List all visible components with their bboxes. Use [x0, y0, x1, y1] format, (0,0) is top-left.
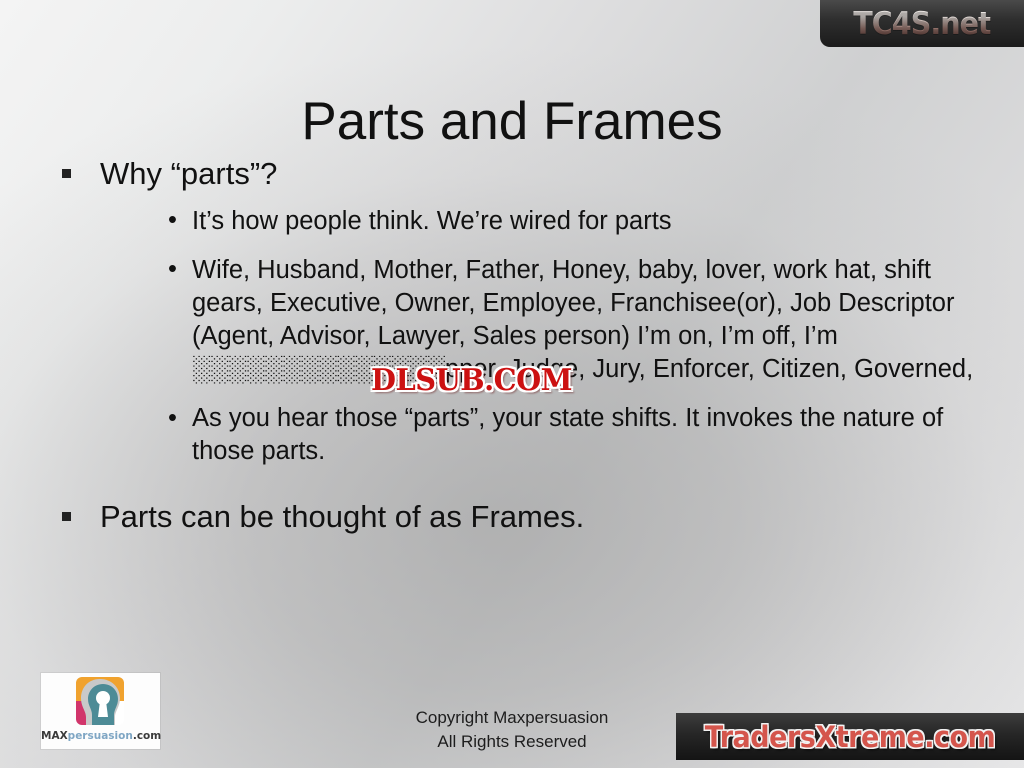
bullet-text: Parts can be thought of as Frames. — [100, 499, 584, 534]
tc4s-logo-banner: TC4S.net — [820, 0, 1024, 47]
slide-body: Why “parts”? • It’s how people think. We… — [48, 156, 988, 545]
square-bullet-icon — [62, 512, 71, 521]
bullet-level2-how-people-think: • It’s how people think. We’re wired for… — [160, 205, 988, 238]
round-bullet-icon: • — [168, 402, 177, 435]
bullet-level2-parts-list: • Wife, Husband, Mother, Father, Honey, … — [160, 254, 988, 387]
slide-title: Parts and Frames — [0, 94, 1024, 150]
tradersxtreme-logo-banner: TradersXtreme.com — [676, 713, 1024, 760]
presentation-slide: TC4S.net Parts and Frames Why “parts”? •… — [0, 0, 1024, 768]
bullet-level1-why-parts: Why “parts”? — [48, 156, 988, 193]
bullet-text: It’s how people think. We’re wired for p… — [192, 207, 672, 235]
round-bullet-icon: • — [168, 204, 177, 237]
square-bullet-icon — [62, 169, 71, 178]
tc4s-logo-text: TC4S.net — [853, 6, 991, 42]
bullet-level1-parts-as-frames: Parts can be thought of as Frames. — [48, 499, 988, 536]
sub-bullet-group: • It’s how people think. We’re wired for… — [48, 205, 988, 469]
bullet-text: Wife, Husband, Mother, Father, Honey, ba… — [192, 256, 973, 383]
bullet-text: Why “parts”? — [100, 156, 277, 191]
tradersxtreme-logo-text: TradersXtreme.com — [705, 720, 996, 754]
bullet-text: As you hear those “parts”, your state sh… — [192, 404, 943, 465]
round-bullet-icon: • — [168, 253, 177, 286]
bullet-level2-state-shifts: • As you hear those “parts”, your state … — [160, 402, 988, 468]
